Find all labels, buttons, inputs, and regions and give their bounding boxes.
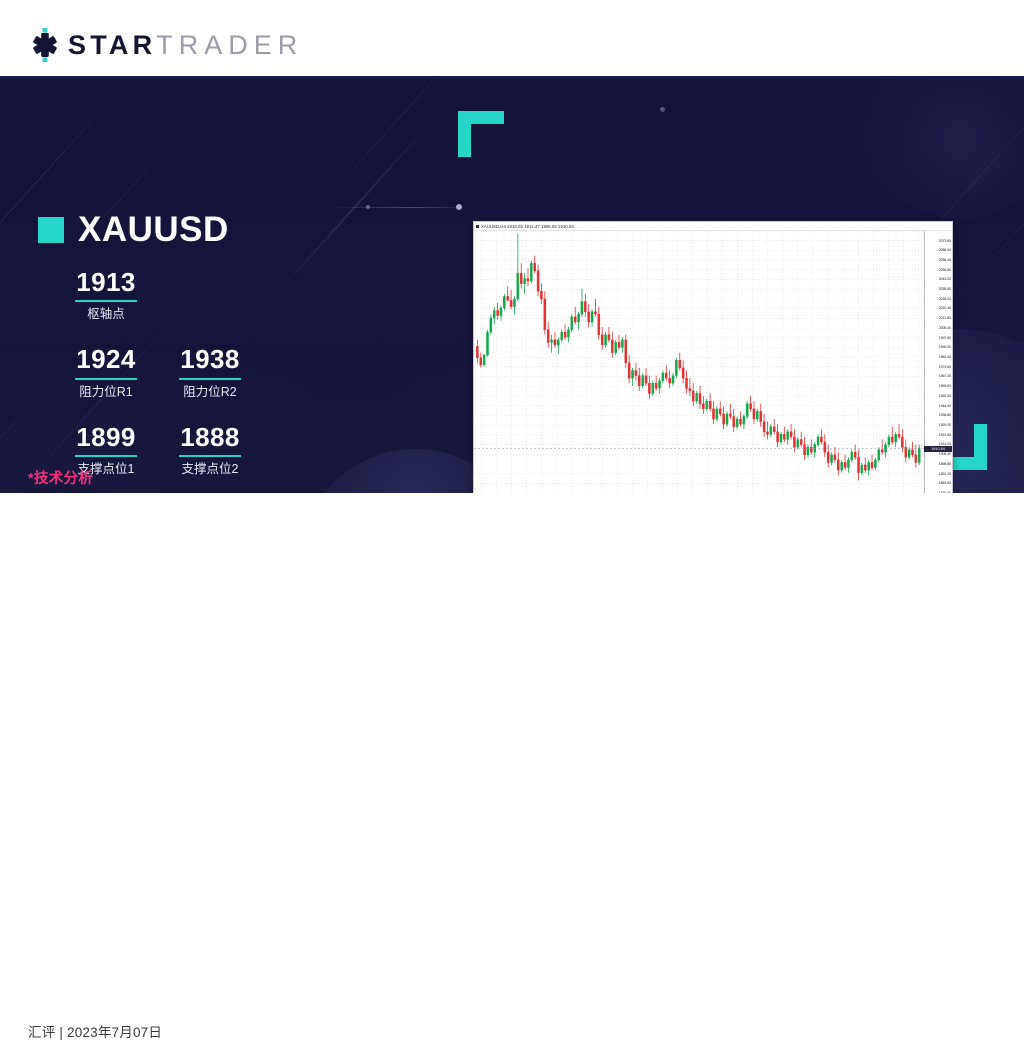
chart-title-bar: XAUUSD,H4 1910.02 1911.47 1905.92 1910.8… [474, 222, 952, 231]
decor-hairline [330, 207, 470, 208]
price-tick-label: 2020.40 [939, 306, 951, 310]
title-accent-square [38, 217, 64, 243]
instrument-symbol: XAUUSD [78, 212, 229, 247]
price-tick-label: 2058.40 [939, 258, 951, 262]
pivot-row-resistance: 1924 阻力位R1 1938 阻力位R2 [54, 346, 384, 399]
chart-title: XAUUSD,H4 1910.02 1911.47 1905.92 1910.8… [481, 224, 574, 229]
chart-window[interactable]: XAUUSD,H4 1910.02 1911.47 1905.92 1910.8… [473, 221, 953, 493]
pivot-value: 1924 [54, 346, 158, 373]
decor-dot [366, 205, 370, 209]
price-tick-label: 1883.60 [939, 481, 951, 485]
price-tick-label: 1997.60 [939, 336, 951, 340]
pivot-underline [75, 378, 137, 380]
pivot-cell: 1924 阻力位R1 [54, 346, 158, 399]
current-price-label: 1910.84 [924, 446, 952, 452]
chart-marker-icon [476, 225, 479, 228]
row-spacer [54, 322, 384, 346]
price-tick-label: 1936.80 [939, 413, 951, 417]
pivot-value: 1888 [158, 424, 262, 451]
main-panel: XAUUSD 1913 枢轴点 1924 阻力位R1 1938 阻力位R2 [0, 79, 1024, 493]
pivot-label: 枢轴点 [54, 307, 158, 322]
pivot-underline [179, 455, 241, 457]
price-tick-label: 1974.80 [939, 365, 951, 369]
price-tick-label: 2028.00 [939, 297, 951, 301]
decor-dot [456, 204, 462, 210]
price-tick-label: 1959.60 [939, 384, 951, 388]
price-tick-label: 2043.20 [939, 277, 951, 281]
instrument-title: XAUUSD [38, 212, 229, 247]
chart-plot-area[interactable] [474, 231, 926, 493]
price-tick-label: 2005.20 [939, 326, 951, 330]
pivot-value: 1913 [54, 269, 158, 296]
row-spacer [54, 400, 384, 424]
decor-orb [860, 79, 1024, 219]
price-tick-label: 2073.60 [939, 239, 951, 243]
decor-streak [311, 79, 486, 216]
price-tick-label: 1952.00 [939, 394, 951, 398]
price-tick-label: 2035.60 [939, 287, 951, 291]
page-header: STARTRADER [0, 0, 1024, 79]
price-axis[interactable]: 2073.602066.002058.402050.802043.202035.… [924, 231, 952, 493]
price-tick-label: 1891.20 [939, 472, 951, 476]
pivot-underline [75, 300, 137, 302]
star-asterisk-icon [26, 26, 64, 64]
analysis-heading: *技术分析 [28, 467, 428, 488]
pivot-label: 阻力位R1 [54, 385, 158, 400]
price-tick-label: 1921.60 [939, 433, 951, 437]
footer-caption: 汇评 | 2023年7月07日 [28, 1021, 162, 1041]
pivot-label: 阻力位R2 [158, 385, 262, 400]
brand-name-bold: STAR [68, 30, 156, 60]
price-tick-label: 1982.40 [939, 355, 951, 359]
price-tick-label: 1906.40 [939, 452, 951, 456]
candlestick-series [474, 231, 926, 493]
pivot-value: 1899 [54, 424, 158, 451]
price-tick-label: 1898.80 [939, 462, 951, 466]
price-tick-label: 1990.00 [939, 345, 951, 349]
pivot-cell: 1913 枢轴点 [54, 269, 158, 322]
price-tick-label: 1944.40 [939, 404, 951, 408]
price-tick-label: 2066.00 [939, 248, 951, 252]
pivot-cell: 1938 阻力位R2 [158, 346, 262, 399]
technical-analysis: *技术分析 多头持仓在枢轴点以上，目标位为阻力位R1及阻力位R2。 若低于枢轴点… [28, 467, 428, 493]
decor-dot [660, 107, 665, 112]
price-tick-label: 2050.80 [939, 268, 951, 272]
brand-name-light: TRADER [156, 30, 303, 60]
brand-wordmark: STARTRADER [68, 32, 303, 59]
brand-logo: STARTRADER [26, 26, 303, 64]
pivot-value: 1938 [158, 346, 262, 373]
pivot-underline [179, 378, 241, 380]
pivot-levels: 1913 枢轴点 1924 阻力位R1 1938 阻力位R2 1899 [54, 269, 384, 477]
price-tick-label: 1929.20 [939, 423, 951, 427]
corner-bracket-top-left [458, 111, 504, 157]
pivot-row-main: 1913 枢轴点 [54, 269, 384, 322]
pivot-underline [75, 455, 137, 457]
price-tick-label: 1967.20 [939, 374, 951, 378]
page-footer: 汇评 | 2023年7月07日 [0, 493, 1024, 576]
price-tick-label: 2012.80 [939, 316, 951, 320]
